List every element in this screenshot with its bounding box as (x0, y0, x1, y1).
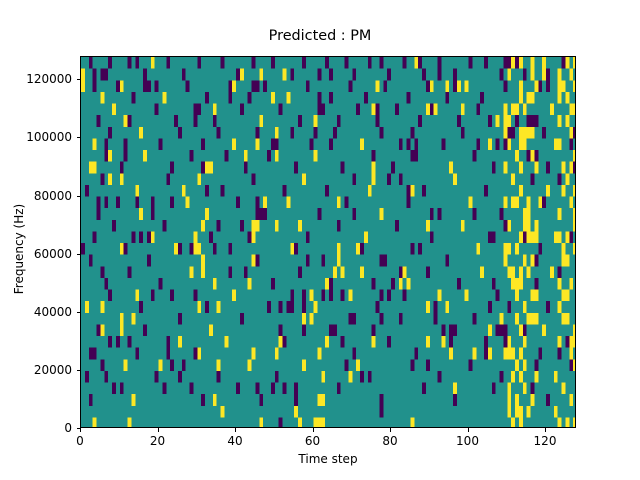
y-tick-mark (77, 370, 81, 371)
y-tick-mark (77, 79, 81, 80)
x-tick-label: 0 (76, 434, 84, 448)
y-tick-label: 40000 (0, 305, 72, 319)
x-tick-mark (158, 428, 159, 432)
y-tick-label: 20000 (0, 363, 72, 377)
x-tick-label: 100 (456, 434, 479, 448)
x-tick-label: 20 (150, 434, 165, 448)
figure-canvas: Predicted : PM 0200004000060000800001000… (0, 0, 640, 480)
x-tick-mark (545, 428, 546, 432)
y-tick-mark (77, 312, 81, 313)
y-tick-mark (77, 196, 81, 197)
y-tick-label: 60000 (0, 247, 72, 261)
x-tick-mark (313, 428, 314, 432)
x-tick-label: 60 (305, 434, 320, 448)
x-tick-mark (468, 428, 469, 432)
y-tick-label: 120000 (0, 72, 72, 86)
x-tick-label: 80 (382, 434, 397, 448)
x-tick-mark (235, 428, 236, 432)
x-tick-mark (80, 428, 81, 432)
y-tick-mark (77, 137, 81, 138)
y-tick-label: 100000 (0, 130, 72, 144)
heatmap-axes[interactable] (80, 56, 576, 428)
y-tick-mark (77, 254, 81, 255)
heatmap-image[interactable] (81, 57, 576, 428)
y-tick-label: 0 (0, 421, 72, 435)
y-axis-label: Frequency (Hz) (12, 149, 26, 349)
y-tick-label: 80000 (0, 189, 72, 203)
x-axis-label: Time step (80, 452, 576, 466)
x-tick-mark (390, 428, 391, 432)
chart-title: Predicted : PM (0, 28, 640, 44)
x-tick-label: 40 (227, 434, 242, 448)
x-tick-label: 120 (534, 434, 557, 448)
